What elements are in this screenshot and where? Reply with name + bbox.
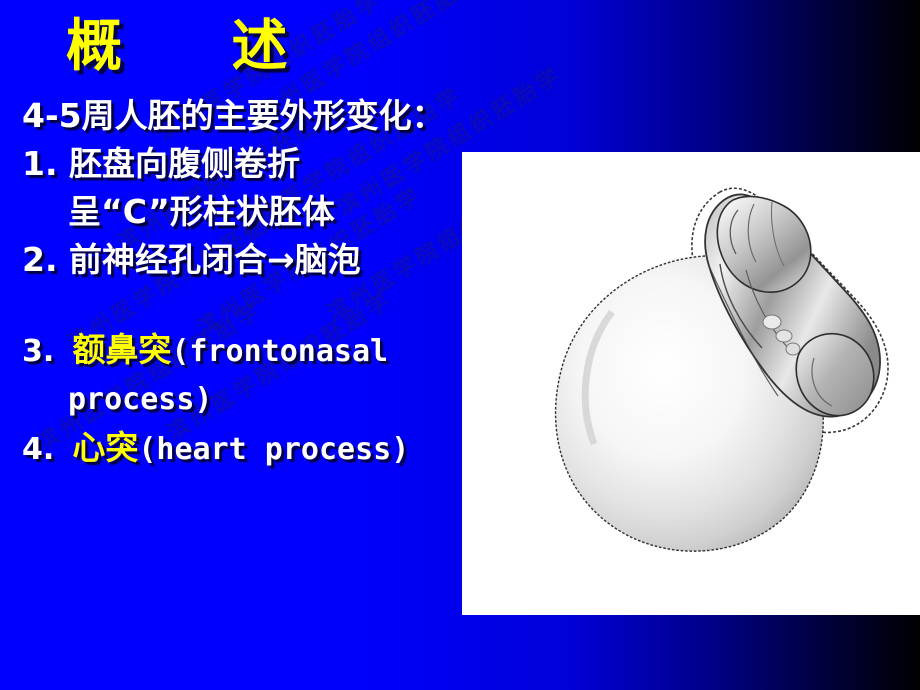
human-embryo-drawing [462,152,920,615]
figure-panel [462,152,920,615]
list-item-1-sub: 呈“C”形柱状胚体 [22,188,470,236]
somite-marker-3 [786,343,800,355]
list-spacer [22,284,470,326]
body-list: 4-5周人胚的主要外形变化： 1. 胚盘向腹侧卷折 呈“C”形柱状胚体 2. 前… [22,92,470,474]
list-item-2-number: 2. [22,240,58,279]
text-column: 概 述 4-5周人胚的主要外形变化： 1. 胚盘向腹侧卷折 呈“C”形柱状胚体 … [0,0,470,690]
list-item-2: 2. 前神经孔闭合→脑泡 [22,236,470,284]
list-item-4-number: 4. [22,432,54,467]
list-item-3: 3. 额鼻突(frontonasal [22,326,470,376]
somite-marker-2 [776,330,792,342]
somite-marker-1 [763,315,781,329]
list-item-1-sub-text: 呈“C”形柱状胚体 [68,192,335,231]
list-item-1-number: 1. [22,144,58,183]
body-heading: 4-5周人胚的主要外形变化： [22,92,470,140]
list-item-1: 1. 胚盘向腹侧卷折 [22,140,470,188]
list-item-3-latin-cont: process) [68,382,213,417]
list-item-3-number: 3. [22,334,54,369]
list-item-4-latin: (heart process) [138,432,409,467]
list-item-1-text: 胚盘向腹侧卷折 [69,144,300,183]
list-item-4-term: 心突 [72,428,138,467]
presentation-slide: 滨州医学院组织胚胎学 滨州医学院组织胚胎学 滨州医学院组织胚胎学 滨州医学院组织… [0,0,920,690]
list-item-3-cont: process) [22,376,470,424]
list-item-3-latin: (frontonasal [171,334,388,369]
list-item-3-term: 额鼻突 [72,330,171,369]
list-item-2-text: 前神经孔闭合→脑泡 [69,240,361,279]
list-item-4: 4. 心突(heart process) [22,424,470,474]
slide-title: 概 述 [66,16,289,78]
